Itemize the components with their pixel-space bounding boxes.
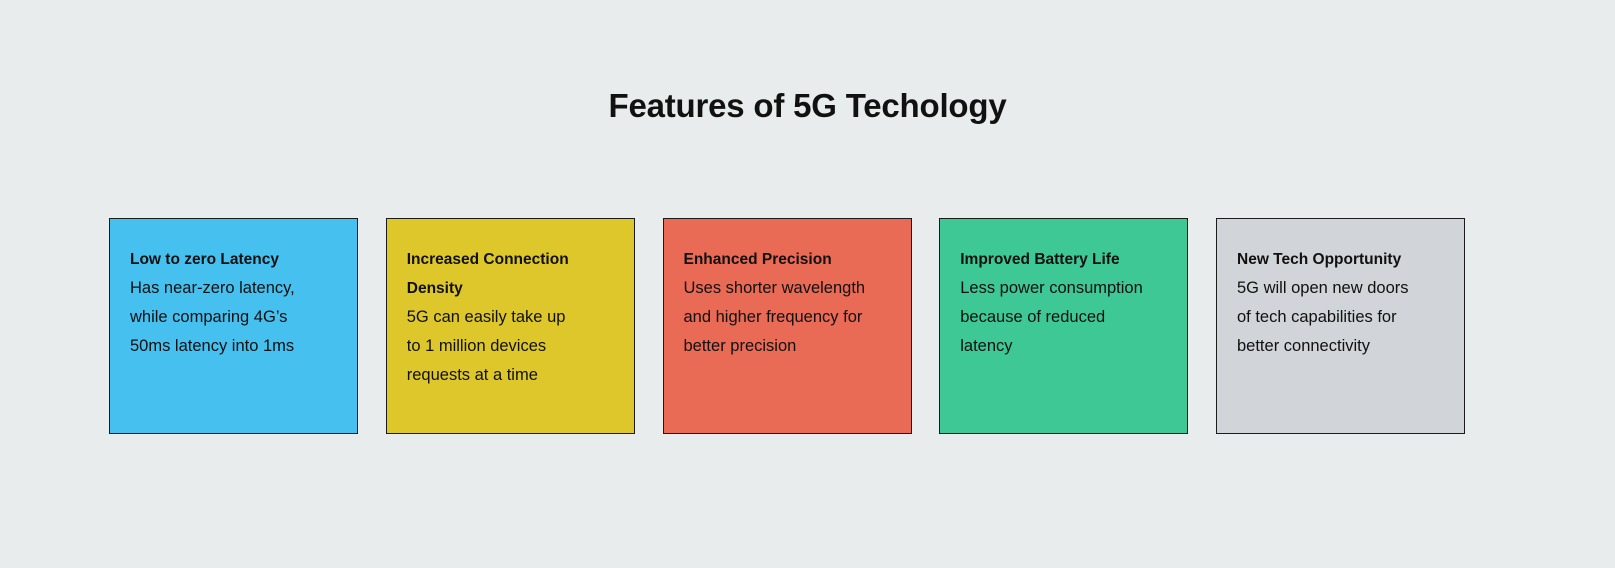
feature-cards-row: Low to zero Latency Has near-zero latenc… (109, 218, 1465, 434)
feature-card-body-line: 5G can easily take up (407, 303, 614, 332)
feature-card-body-line: while comparing 4G’s (130, 303, 337, 332)
feature-card-low-to-zero-latency[interactable]: Low to zero Latency Has near-zero latenc… (109, 218, 358, 434)
feature-card-enhanced-precision[interactable]: Enhanced Precision Uses shorter waveleng… (663, 218, 912, 434)
feature-card-body-line: better precision (684, 332, 891, 361)
feature-card-title: Improved Battery Life (960, 245, 1167, 274)
feature-card-body-line: 50ms latency into 1ms (130, 332, 337, 361)
page-title: Features of 5G Techology (0, 84, 1615, 128)
feature-card-body-line: to 1 million devices (407, 332, 614, 361)
feature-card-body: Has near-zero latency, while comparing 4… (130, 274, 337, 361)
feature-card-title: Increased Connection Density (407, 245, 614, 303)
feature-card-body: Uses shorter wavelength and higher frequ… (684, 274, 891, 361)
feature-card-body-line: Uses shorter wavelength (684, 274, 891, 303)
feature-card-body: 5G will open new doors of tech capabilit… (1237, 274, 1444, 361)
feature-card-increased-connection-density[interactable]: Increased Connection Density 5G can easi… (386, 218, 635, 434)
slide-canvas: Features of 5G Techology Low to zero Lat… (0, 0, 1615, 568)
feature-card-improved-battery-life[interactable]: Improved Battery Life Less power consump… (939, 218, 1188, 434)
feature-card-body-line: requests at a time (407, 361, 614, 390)
feature-card-body-line: better connectivity (1237, 332, 1444, 361)
feature-card-body-line: latency (960, 332, 1167, 361)
feature-card-new-tech-opportunity[interactable]: New Tech Opportunity 5G will open new do… (1216, 218, 1465, 434)
feature-card-title: Low to zero Latency (130, 245, 337, 274)
feature-card-body-line: 5G will open new doors (1237, 274, 1444, 303)
feature-card-body: 5G can easily take up to 1 million devic… (407, 303, 614, 390)
feature-card-title: New Tech Opportunity (1237, 245, 1444, 274)
feature-card-body-line: because of reduced (960, 303, 1167, 332)
feature-card-body-line: and higher frequency for (684, 303, 891, 332)
feature-card-body-line: of tech capabilities for (1237, 303, 1444, 332)
feature-card-body-line: Has near-zero latency, (130, 274, 337, 303)
feature-card-body-line: Less power consumption (960, 274, 1167, 303)
feature-card-body: Less power consumption because of reduce… (960, 274, 1167, 361)
feature-card-title: Enhanced Precision (684, 245, 891, 274)
